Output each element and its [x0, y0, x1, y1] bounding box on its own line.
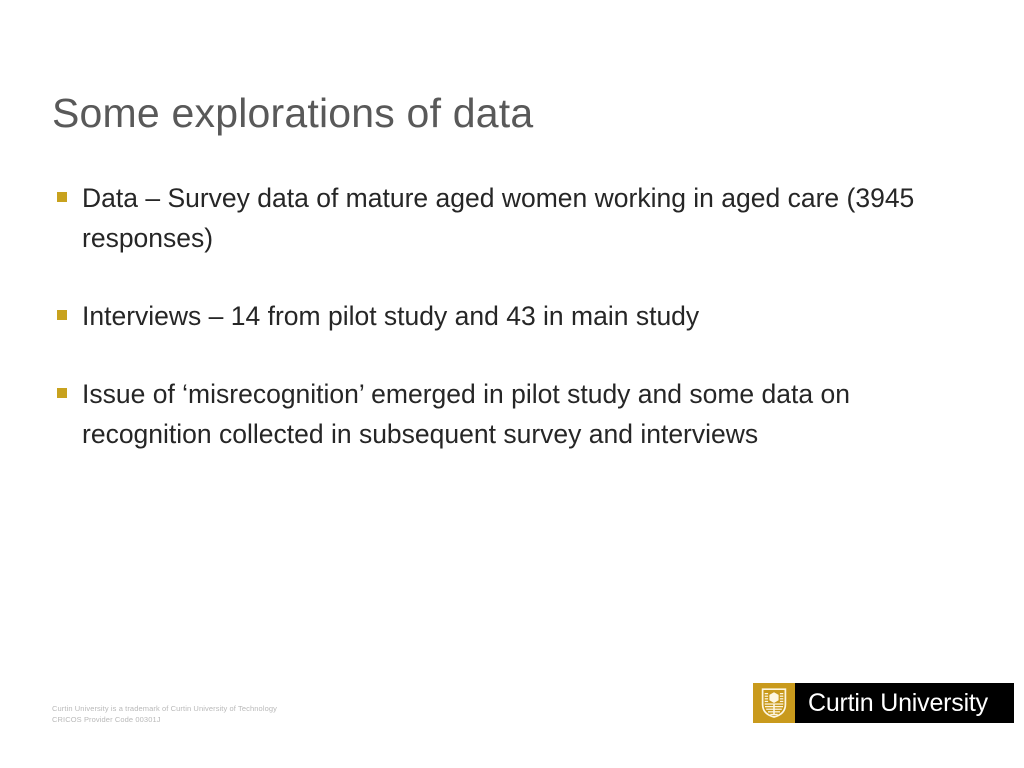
page-title: Some explorations of data — [52, 89, 952, 137]
curtin-crest-icon — [753, 683, 795, 723]
footer-legal-line-2: CRICOS Provider Code 00301J — [52, 714, 277, 725]
curtin-university-logo: Curtin University — [753, 683, 1014, 723]
curtin-wordmark-text: Curtin University — [808, 691, 988, 716]
footer-legal-text: Curtin University is a trademark of Curt… — [52, 703, 277, 725]
list-item: Interviews – 14 from pilot study and 43 … — [52, 296, 967, 336]
bullet-list: Data – Survey data of mature aged women … — [52, 178, 967, 454]
list-item-text: Interviews – 14 from pilot study and 43 … — [82, 296, 967, 336]
footer-legal-line-1: Curtin University is a trademark of Curt… — [52, 703, 277, 714]
square-bullet-icon — [57, 310, 67, 320]
square-bullet-icon — [57, 388, 67, 398]
square-bullet-icon — [57, 192, 67, 202]
list-item-text: Issue of ‘misrecognition’ emerged in pil… — [82, 374, 967, 454]
list-item: Data – Survey data of mature aged women … — [52, 178, 967, 258]
curtin-wordmark: Curtin University — [795, 683, 1014, 723]
list-item-text: Data – Survey data of mature aged women … — [82, 178, 967, 258]
list-item: Issue of ‘misrecognition’ emerged in pil… — [52, 374, 967, 454]
slide-canvas: Some explorations of data Data – Survey … — [0, 0, 1024, 768]
